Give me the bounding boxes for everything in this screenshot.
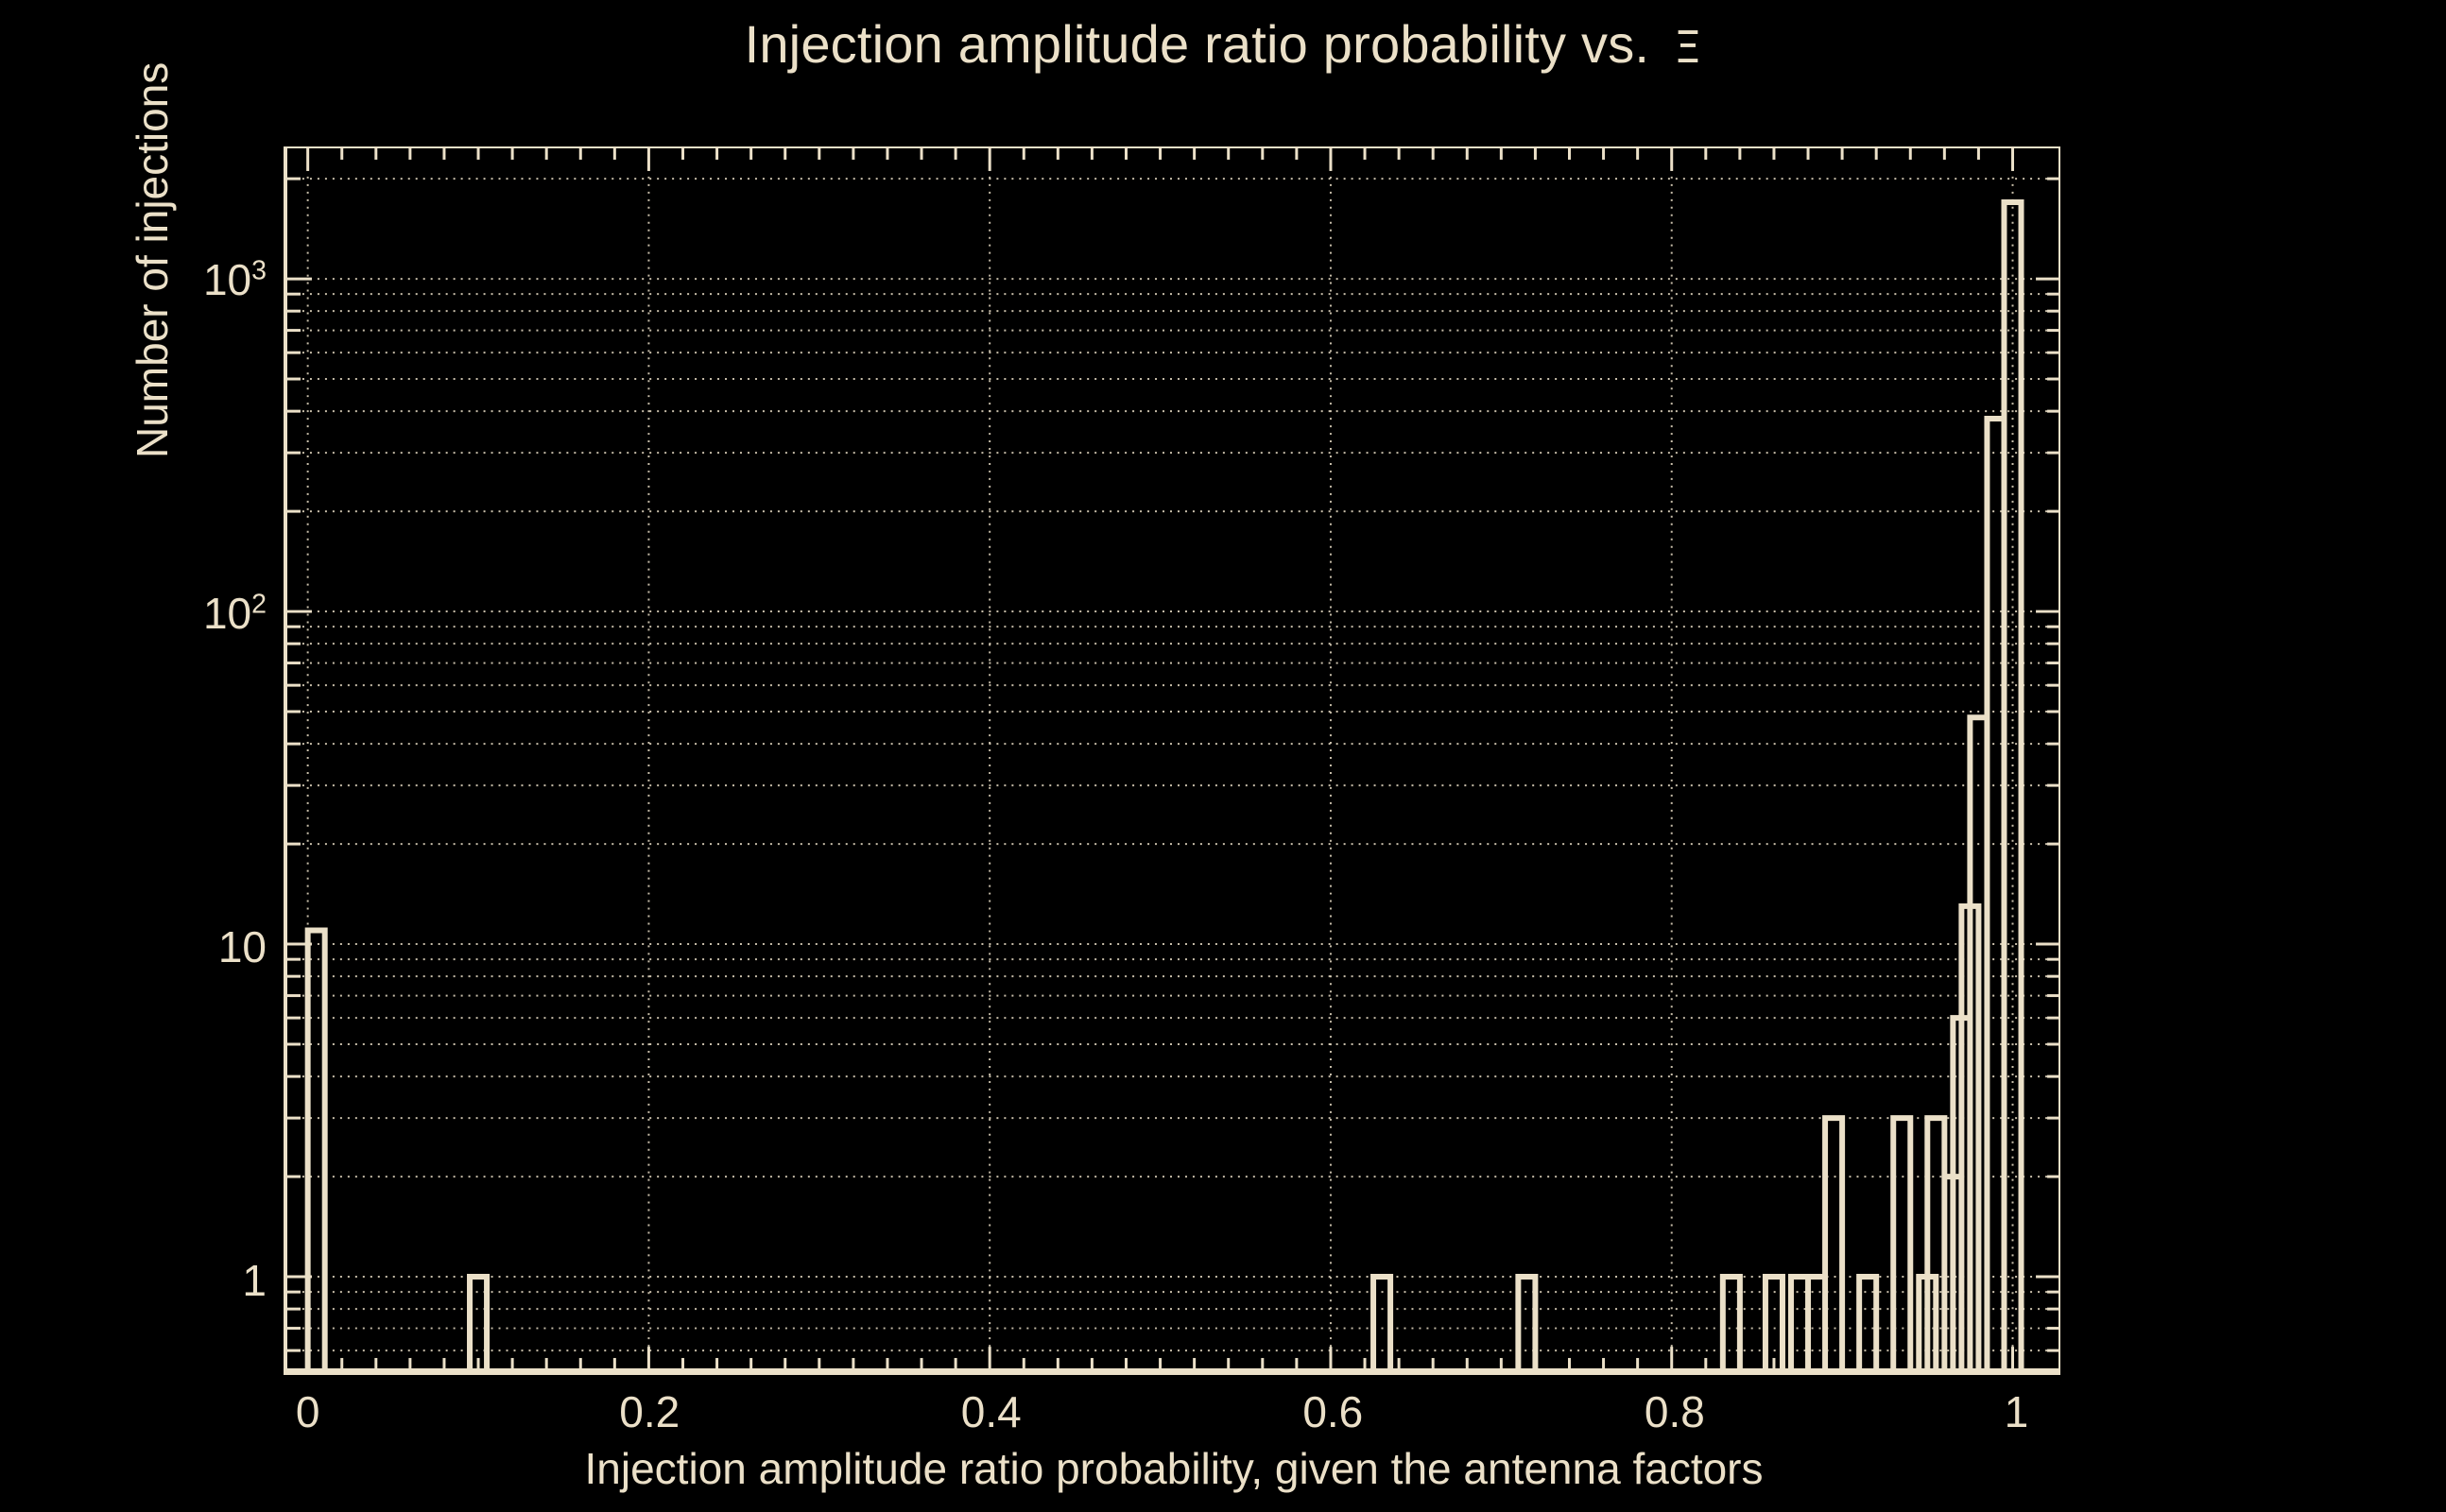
histogram-data-layer [287,146,2060,1371]
plot-frame: Number of injections 110102103 00.20.40.… [284,146,2060,1375]
x-tick-label-0: 0 [296,1386,320,1437]
x-tick-label-1: 0.2 [619,1386,680,1437]
x-tick-label-2: 0.4 [961,1386,1022,1437]
y-axis-label: Number of injections [127,62,178,458]
x-tick-label-3: 0.6 [1302,1386,1363,1437]
xi-symbol: Ξ [1649,22,1701,73]
y-tick-label-3: 103 [203,254,267,305]
x-tick-label-5: 1 [2005,1386,2029,1437]
x-tick-label-4: 0.8 [1645,1386,1705,1437]
chart-title-text: Injection amplitude ratio probability vs… [745,14,1650,74]
y-tick-label-0: 1 [242,1255,267,1306]
y-tick-label-2: 102 [203,588,267,639]
x-axis-label: Injection amplitude ratio probability, g… [584,1443,1763,1494]
y-tick-label-1: 10 [218,921,267,972]
chart-title: Injection amplitude ratio probability vs… [0,13,2446,75]
plot-canvas: Injection amplitude ratio probability vs… [0,0,2446,1512]
